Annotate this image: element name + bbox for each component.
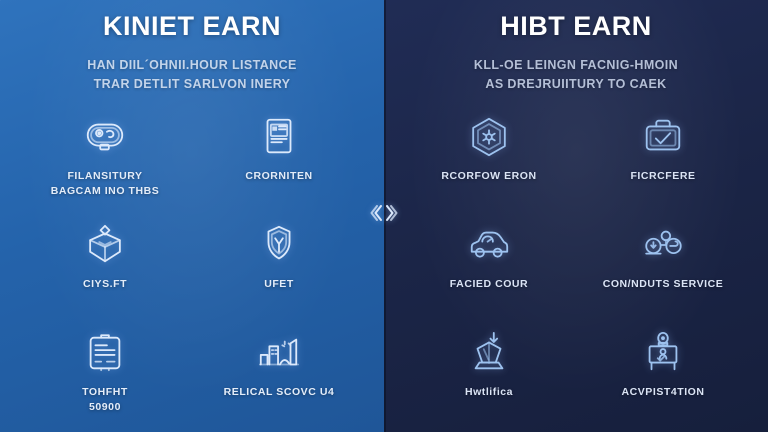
right-panel-header: HIBT EARN KLL-OE LEINGN FACNIG-HMOIN AS … <box>384 12 768 94</box>
right-panel-title: HIBT EARN <box>384 12 768 42</box>
left-subtitle-line-1: HAN DIIL´OHNII.HOUR LISTANCE <box>0 56 384 75</box>
right-panel-subtitle: KLL-OE LEINGN FACNIG-HMOIN AS DREJRUIITU… <box>384 56 768 95</box>
chevron-right-icon <box>387 206 397 220</box>
left-panel-subtitle: HAN DIIL´OHNII.HOUR LISTANCE TRAR DETLIT… <box>0 56 384 95</box>
left-panel-title: KINIET EARN <box>0 12 384 42</box>
city-chart-icon <box>256 330 302 376</box>
left-grid-item-3-label: CIYS.FT <box>83 277 127 291</box>
left-grid-item-1-label: FILANSITURY BAGCAM INO THBS <box>51 169 160 197</box>
right-grid-item-3[interactable]: FACIED COUR <box>402 222 576 322</box>
left-subtitle-line-2: TRAR DETLIT SARLVON INERY <box>0 75 384 94</box>
gauge-network-icon <box>640 222 686 268</box>
chevron-left-icon <box>372 206 382 220</box>
right-grid-item-3-label: FACIED COUR <box>450 277 528 291</box>
right-icon-grid: RCORFOW ERON FICRCFERE <box>384 114 768 430</box>
right-subtitle-line-1: KLL-OE LEINGN FACNIG-HMOIN <box>384 56 768 75</box>
right-subtitle-line-2: AS DREJRUIITURY TO CAEK <box>384 75 768 94</box>
left-grid-item-2-label: CRORNITEN <box>245 169 312 183</box>
right-grid-item-1[interactable]: RCORFOW ERON <box>402 114 576 214</box>
left-grid-item-2[interactable]: CRORNITEN <box>192 114 366 214</box>
briefcase-check-icon <box>640 114 686 160</box>
download-shield-icon <box>466 330 512 376</box>
left-grid-item-6-label: RELICAL SCOVC U4 <box>224 385 335 399</box>
right-grid-item-5-label: Hwtlifica <box>465 385 513 399</box>
left-grid-item-5[interactable]: TOHFHT 50900 <box>18 330 192 430</box>
left-grid-item-3[interactable]: CIYS.FT <box>18 222 192 322</box>
left-panel: KINIET EARN HAN DIIL´OHNII.HOUR LISTANCE… <box>0 0 384 432</box>
clipboard-form-icon <box>82 330 128 376</box>
split-comparison-infographic: KINIET EARN HAN DIIL´OHNII.HOUR LISTANCE… <box>0 0 768 432</box>
right-panel: HIBT EARN KLL-OE LEINGN FACNIG-HMOIN AS … <box>384 0 768 432</box>
hexagon-node-icon <box>466 114 512 160</box>
left-grid-item-1[interactable]: FILANSITURY BAGCAM INO THBS <box>18 114 192 214</box>
right-grid-item-4[interactable]: CON/NDUTS SERVICE <box>576 222 750 322</box>
document-card-icon <box>256 114 302 160</box>
right-grid-item-1-label: RCORFOW ERON <box>441 169 536 183</box>
hexagon-box-icon <box>82 222 128 268</box>
right-grid-item-4-label: CON/NDUTS SERVICE <box>603 277 724 291</box>
right-grid-item-2[interactable]: FICRCFERE <box>576 114 750 214</box>
right-grid-item-2-label: FICRCFERE <box>630 169 695 183</box>
left-grid-item-6[interactable]: RELICAL SCOVC U4 <box>192 330 366 430</box>
left-icon-grid: FILANSITURY BAGCAM INO THBS CRORNIT <box>0 114 384 430</box>
capsule-device-icon <box>82 114 128 160</box>
left-grid-item-4[interactable]: UFET <box>192 222 366 322</box>
shield-crest-icon <box>256 222 302 268</box>
left-grid-item-5-label: TOHFHT 50900 <box>82 385 128 413</box>
left-grid-item-4-label: UFET <box>264 277 294 291</box>
car-icon <box>466 222 512 268</box>
divider-chevron-badge[interactable] <box>368 200 400 226</box>
right-grid-item-6[interactable]: ACVPIST4TION <box>576 330 750 430</box>
right-grid-item-6-label: ACVPIST4TION <box>621 385 704 399</box>
workstation-icon <box>640 330 686 376</box>
left-panel-header: KINIET EARN HAN DIIL´OHNII.HOUR LISTANCE… <box>0 12 384 94</box>
right-grid-item-5[interactable]: Hwtlifica <box>402 330 576 430</box>
